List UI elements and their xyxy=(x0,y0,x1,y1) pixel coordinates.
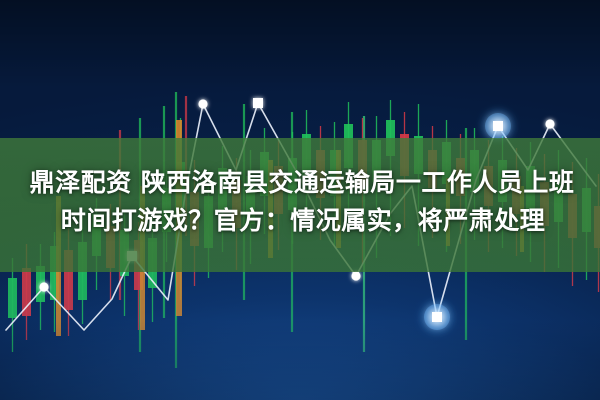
news-banner-image: 鼎泽配资 陕西洛南县交通运输局一工作人员上班 时间打游戏？官方：情况属实，将严肃… xyxy=(0,0,600,400)
headline-line-2: 时间打游戏？官方：情况属实，将严肃处理 xyxy=(0,202,600,240)
headline-line-1: 鼎泽配资 陕西洛南县交通运输局一工作人员上班 xyxy=(0,164,600,202)
headline-text-block: 鼎泽配资 陕西洛南县交通运输局一工作人员上班 时间打游戏？官方：情况属实，将严肃… xyxy=(0,164,600,240)
